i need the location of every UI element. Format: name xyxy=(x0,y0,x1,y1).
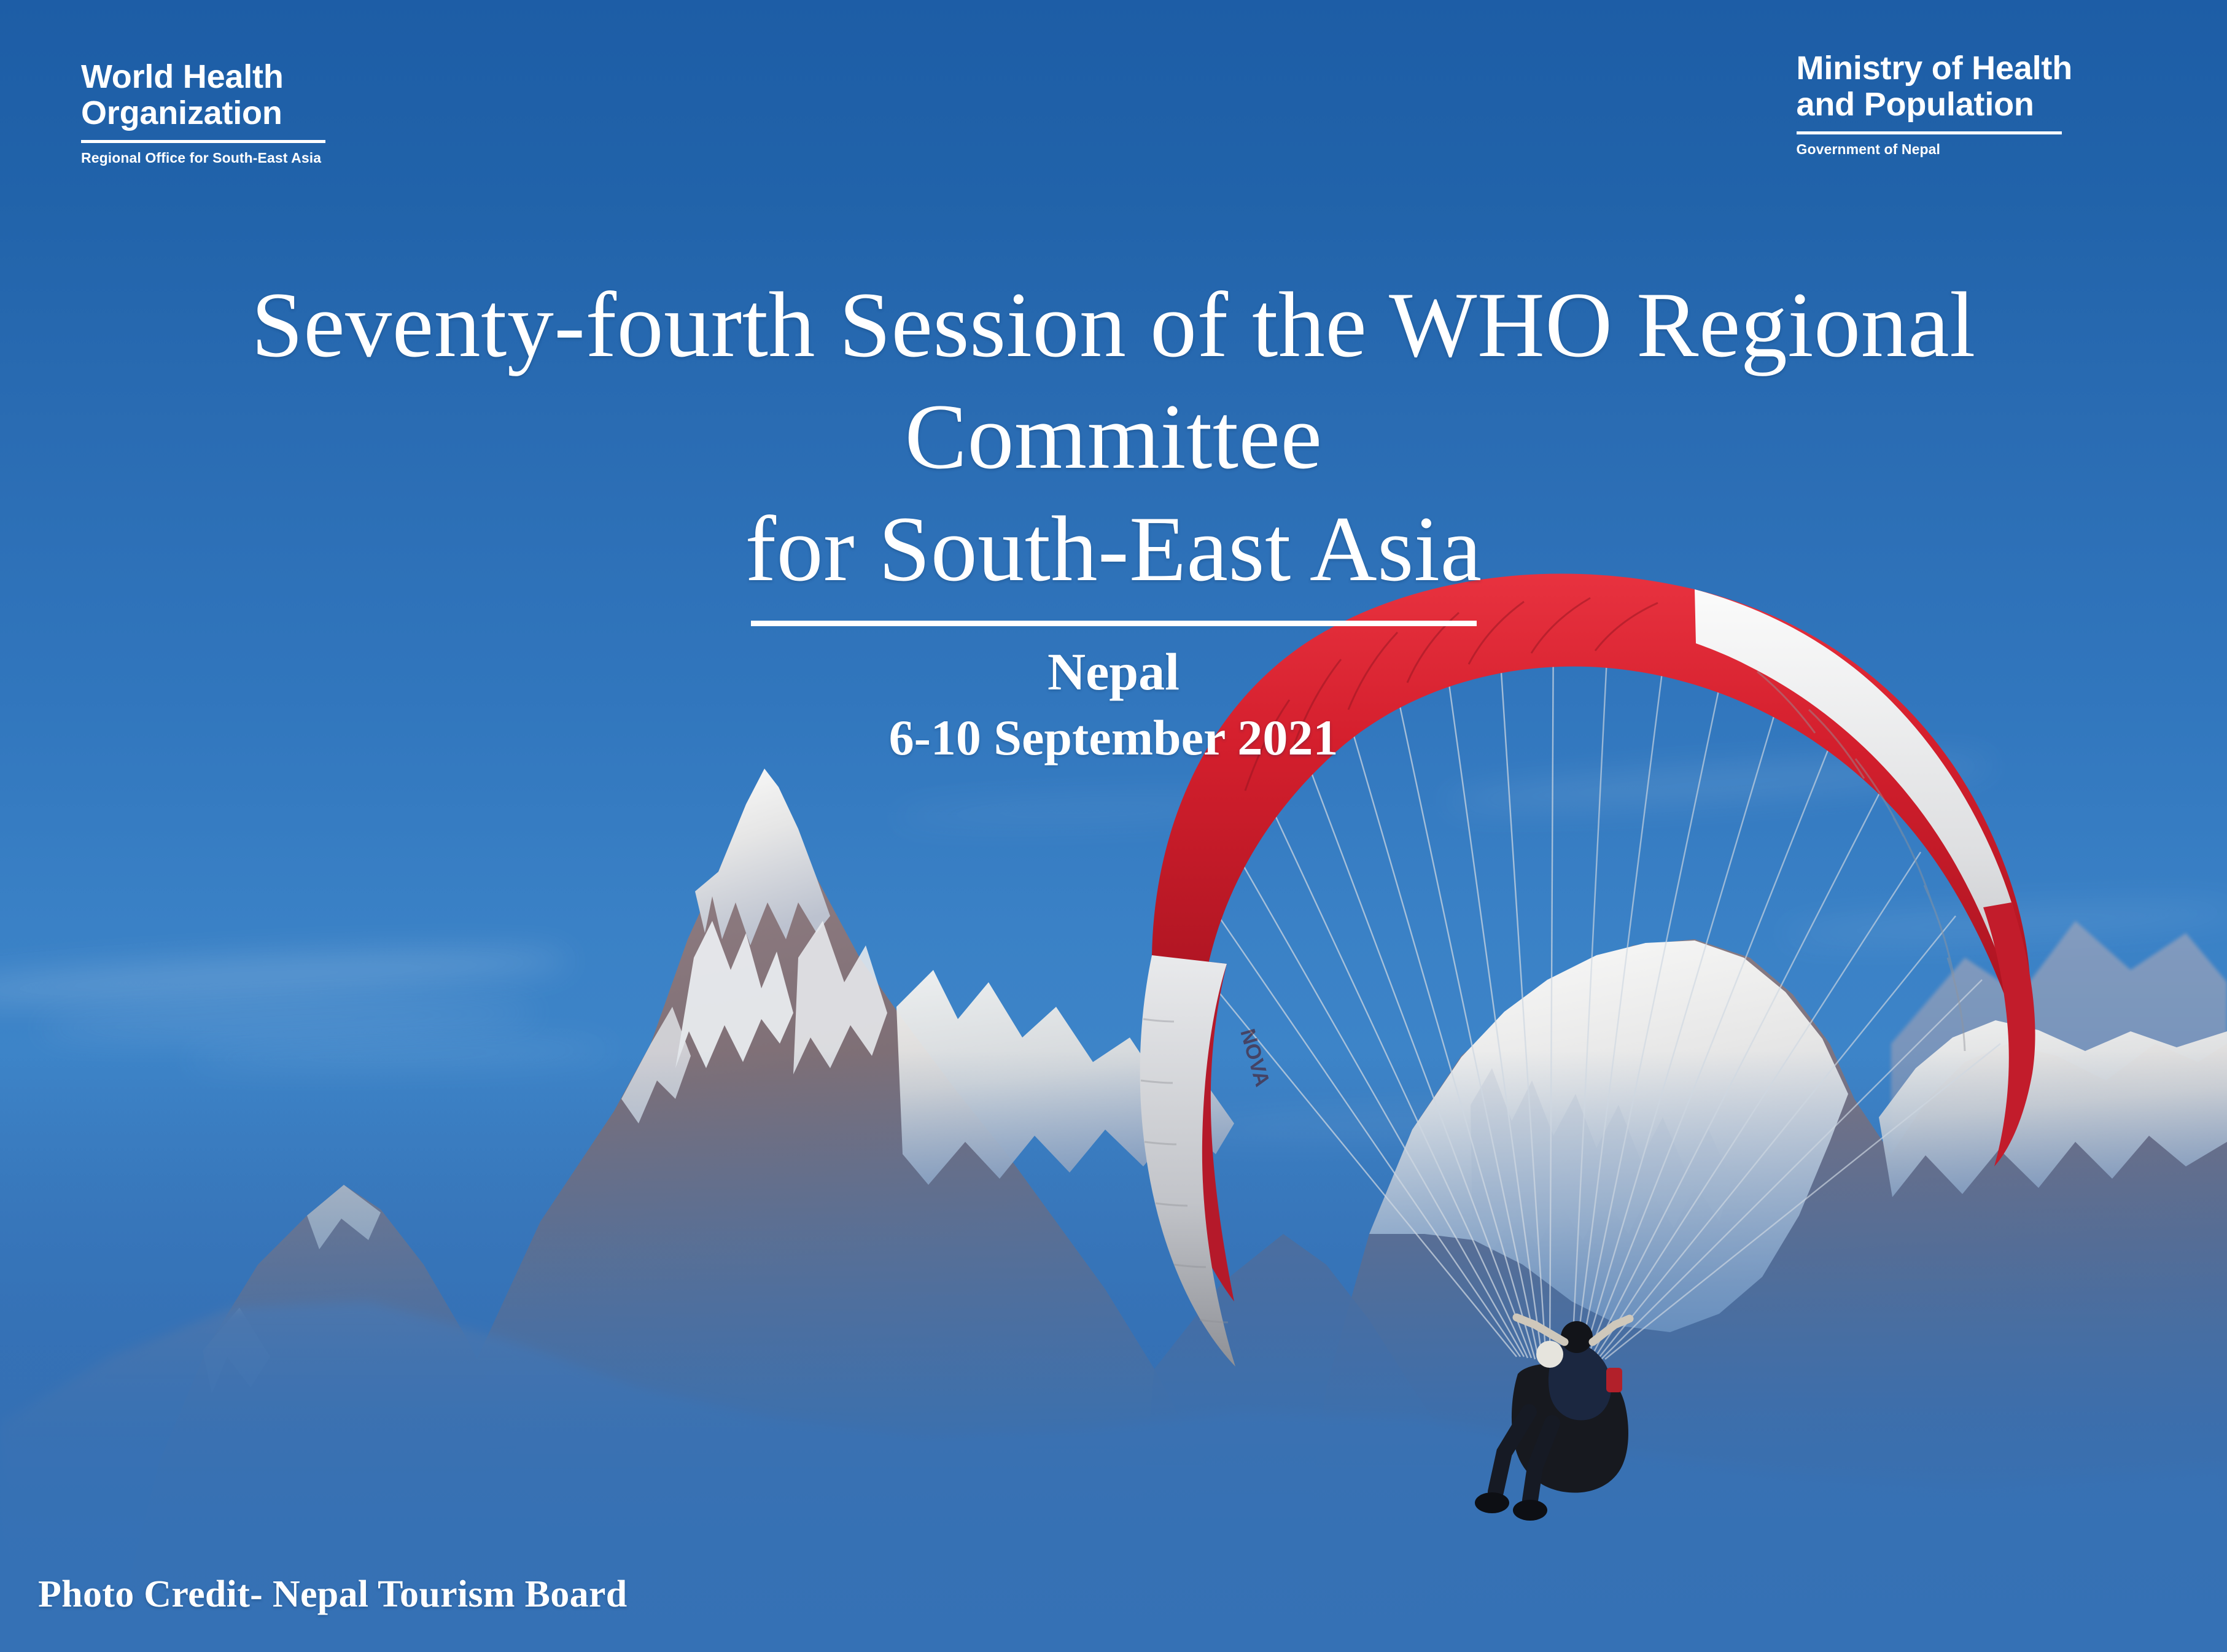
canopy-brand-mark: NOVA xyxy=(1235,1026,1274,1089)
ministry-of-health-logo: Ministry of Health and Population Govern… xyxy=(1797,50,2072,158)
moh-logo-subtitle: Government of Nepal xyxy=(1797,141,2072,158)
moh-logo-line1: Ministry of Health xyxy=(1797,50,2072,87)
event-dates: 6-10 September 2021 xyxy=(0,710,2227,766)
moh-logo-line2: and Population xyxy=(1797,87,2072,123)
boot-left xyxy=(1475,1492,1509,1513)
title-divider xyxy=(751,621,1477,626)
pilot-helmet xyxy=(1561,1321,1593,1353)
page-title-line1: Seventy-fourth Session of the WHO Region… xyxy=(92,269,2135,493)
slide-root: NOVA World Health Organization xyxy=(0,0,2227,1652)
photo-credit: Photo Credit- Nepal Tourism Board xyxy=(38,1573,628,1616)
event-location: Nepal xyxy=(0,642,2227,701)
paraglider: NOVA xyxy=(0,0,2227,1652)
title-block: Seventy-fourth Session of the WHO Region… xyxy=(0,269,2227,766)
red-accessory xyxy=(1606,1368,1622,1392)
who-logo-divider xyxy=(81,140,325,143)
who-logo-subtitle: Regional Office for South-East Asia xyxy=(81,150,325,166)
who-logo: World Health Organization Regional Offic… xyxy=(81,59,325,166)
passenger-helmet xyxy=(1536,1341,1563,1368)
page-title-line2: for South-East Asia xyxy=(92,493,2135,605)
who-logo-line1: World Health xyxy=(81,59,325,95)
moh-logo-divider xyxy=(1797,131,2062,134)
canopy-left-grey-panel xyxy=(1140,955,1235,1367)
boot-right xyxy=(1513,1500,1547,1521)
who-logo-line2: Organization xyxy=(81,95,325,131)
